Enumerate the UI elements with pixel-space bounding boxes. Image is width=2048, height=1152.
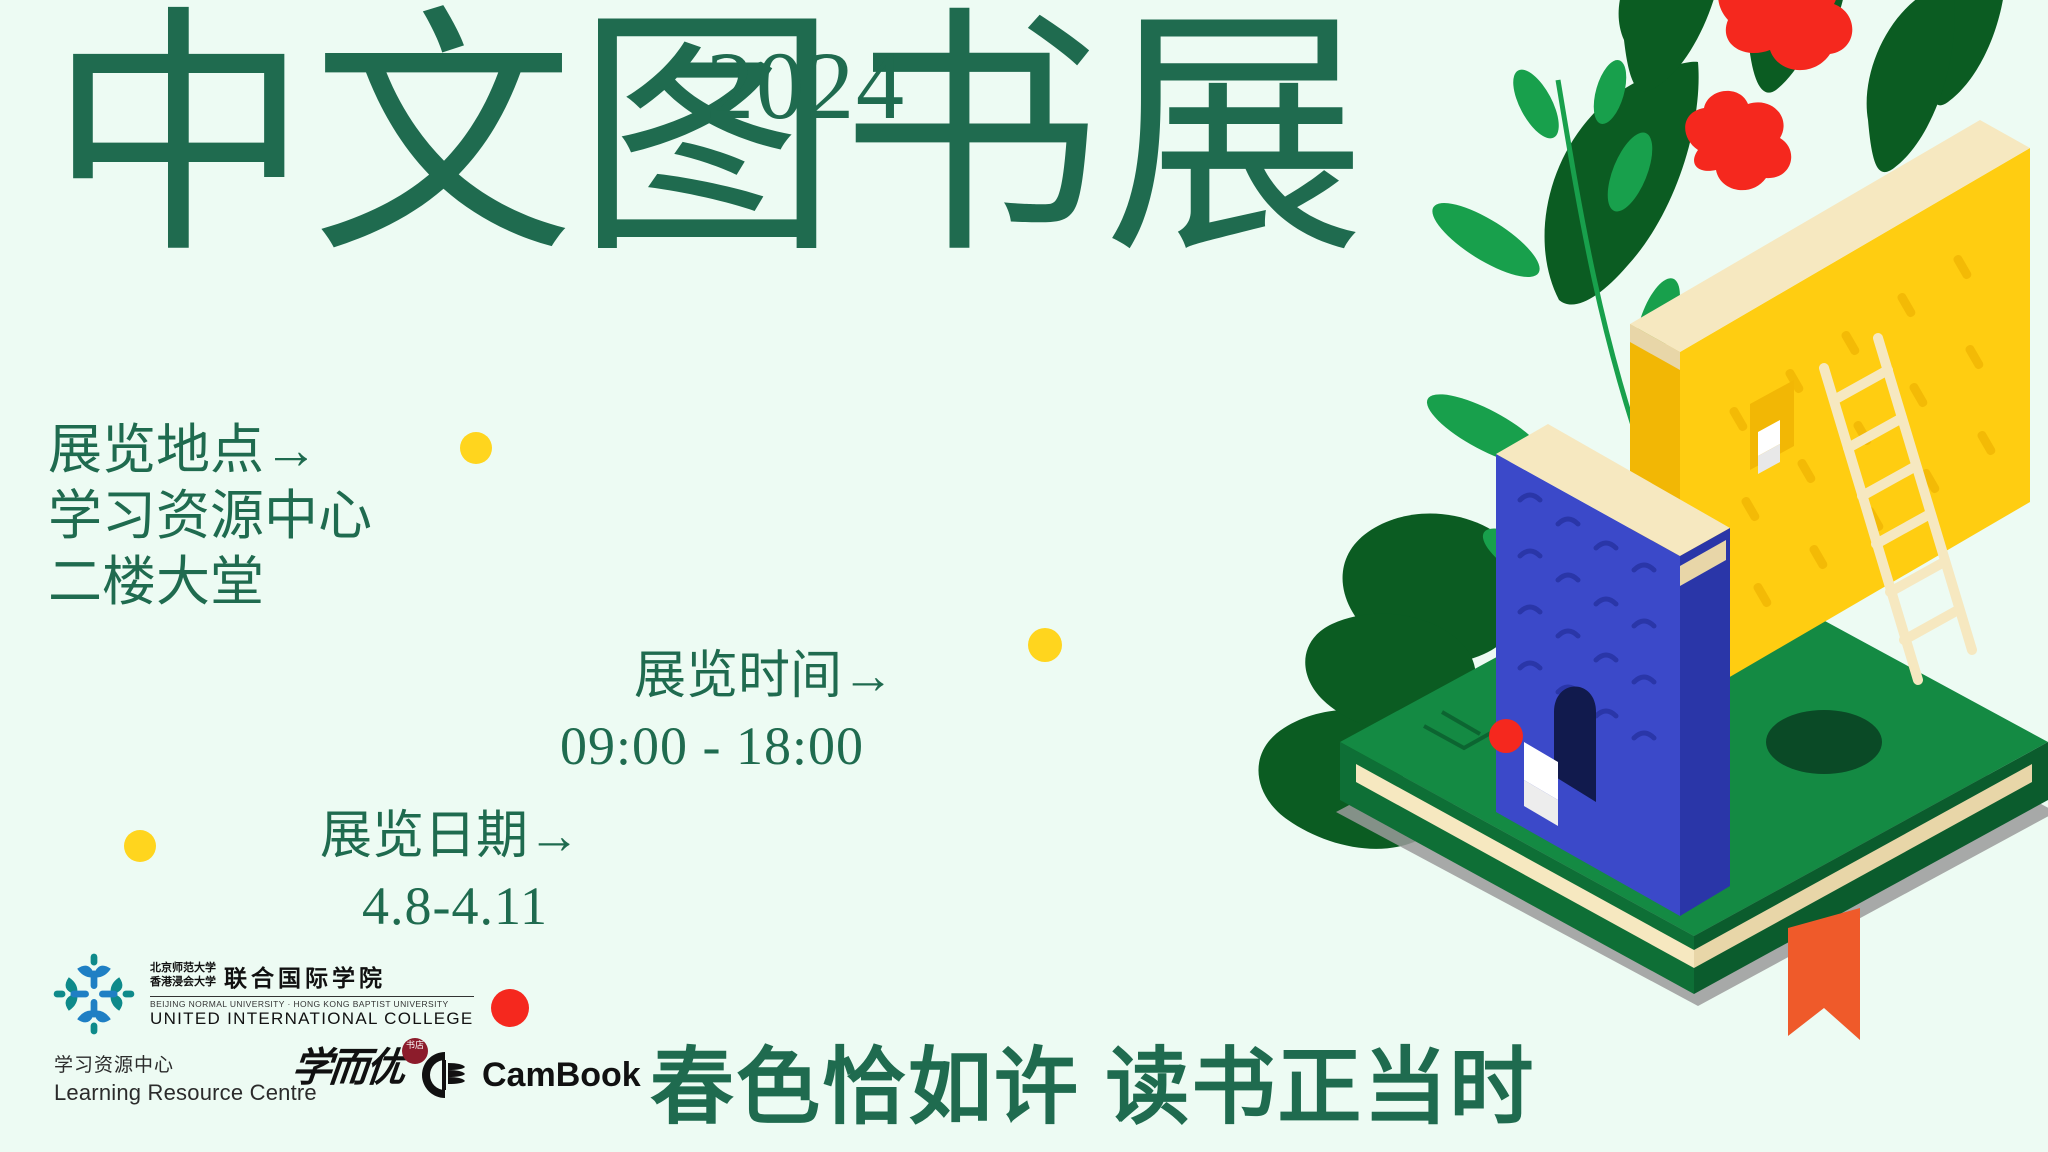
venue-line-1: 学习资源中心 — [48, 484, 372, 550]
red-dot-decor — [1489, 719, 1523, 753]
yellow-dot-1 — [460, 432, 492, 464]
time-label: 展览时间→ — [560, 645, 894, 708]
uic-en-name: UNITED INTERNATIONAL COLLEGE — [150, 1009, 474, 1029]
cambook-name: CamBook — [482, 1056, 641, 1095]
poster-canvas: 中文图书展 2024 展览地点→ 学习资源中心 二楼大堂 展览时间→ 09:00… — [0, 0, 2048, 1152]
yellow-dot-3 — [124, 830, 156, 862]
red-flowers — [1685, 0, 1852, 190]
title-year: 2024 — [706, 38, 906, 134]
uic-emblem-icon — [52, 952, 136, 1036]
xueeryou-logo: 学而优 书店 — [292, 1048, 422, 1104]
time-value: 09:00 - 18:00 — [560, 714, 864, 780]
date-block: 展览日期→ 4.8-4.11 — [320, 805, 580, 940]
uic-en-universities: BEIJING NORMAL UNIVERSITY · HONG KONG BA… — [150, 999, 474, 1009]
time-block: 展览时间→ 09:00 - 18:00 — [560, 645, 894, 780]
uic-cn-small-line-1: 北京师范大学 — [150, 962, 216, 976]
uic-divider — [150, 996, 474, 997]
cambook-icon — [420, 1050, 470, 1100]
uic-logo: 北京师范大学 香港浸会大学 联合国际学院 BEIJING NORMAL UNIV… — [52, 952, 474, 1036]
lrc-cn-name: 学习资源中心 — [54, 1053, 317, 1079]
lrc-en-name: Learning Resource Centre — [54, 1079, 317, 1108]
venue-line-2: 二楼大堂 — [48, 550, 372, 616]
slogan-text: 春色恰如许 读书正当时 — [650, 1020, 1535, 1141]
venue-block: 展览地点→ 学习资源中心 二楼大堂 — [48, 418, 372, 616]
venue-label: 展览地点→ — [48, 418, 372, 484]
yellow-dot-2 — [1028, 628, 1062, 662]
uic-cn-name: 联合国际学院 — [224, 959, 386, 993]
date-value: 4.8-4.11 — [320, 874, 548, 940]
date-label: 展览日期→ — [320, 805, 580, 868]
red-dot-1 — [491, 989, 529, 1027]
book-hole — [1766, 710, 1882, 774]
bookmark-ribbon — [1788, 908, 1860, 1040]
cambook-logo: CamBook — [420, 1050, 641, 1100]
uic-cn-small-line-2: 香港浸会大学 — [150, 976, 216, 990]
lrc-logo: 学习资源中心 Learning Resource Centre — [54, 1053, 317, 1107]
